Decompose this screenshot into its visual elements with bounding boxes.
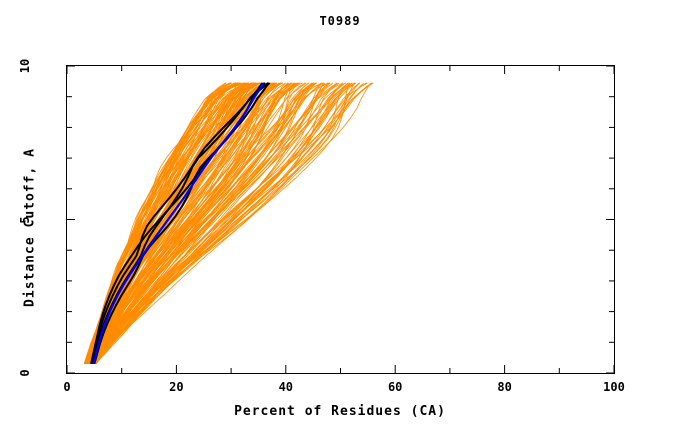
x-axis-label: Percent of Residues (CA) — [0, 404, 680, 419]
x-tick-label: 60 — [388, 380, 402, 394]
page-title: T0989 — [0, 14, 680, 28]
figure: T0989 020406080100 0510 Percent of Resid… — [0, 0, 680, 440]
y-axis-label-wrap: Distance Cutoff, A — [0, 0, 40, 440]
x-tick-label: 20 — [169, 380, 183, 394]
x-tick-label: 0 — [63, 380, 70, 394]
x-tick-label: 40 — [279, 380, 293, 394]
curves-layer — [67, 66, 614, 373]
x-tick-label: 100 — [603, 380, 625, 394]
x-tick-label: 80 — [497, 380, 511, 394]
y-axis-label: Distance Cutoff, A — [23, 118, 38, 338]
plot-area — [66, 65, 615, 374]
